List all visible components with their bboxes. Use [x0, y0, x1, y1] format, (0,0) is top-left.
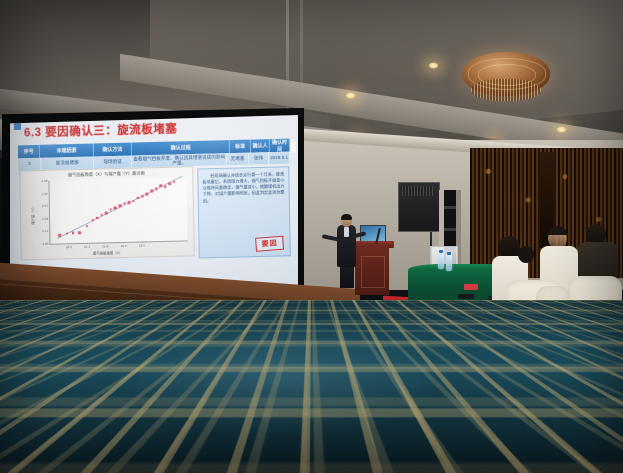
chart-ylabel: 煤产量（Y） [30, 205, 35, 224]
chart-xtick: 21.8 [102, 244, 108, 248]
wall-av-grill [402, 186, 434, 196]
chart-xtick: 20.6 [66, 245, 72, 249]
presenter-hair [341, 214, 352, 220]
speaker-segment [444, 206, 456, 209]
cell-standard: 无堵塞 [227, 153, 249, 166]
cell-process: 查看烟气挡板开度，确认因其堵塞造成的影响产量。 [132, 153, 227, 167]
chart-plot-area: 2.362.302.242.182.122.0620.621.221.822.4… [48, 177, 187, 244]
chart-trendline [49, 177, 187, 243]
chart-data-point [100, 213, 103, 216]
presenter-shirt [344, 227, 349, 237]
chart-data-point [173, 181, 176, 184]
presenter-legs [340, 264, 354, 288]
water-bottle [446, 254, 452, 271]
red-document [464, 284, 478, 290]
chandelier-icon [462, 52, 550, 108]
cell-factor: 旋流板堵塞 [41, 156, 94, 169]
chandelier-ring [478, 64, 536, 86]
chart-data-point [58, 234, 61, 237]
chart-ytick: 2.06 [42, 242, 48, 246]
col-header-index: 序号 [18, 145, 41, 159]
speaker-segment [444, 228, 456, 231]
podium-panel [361, 256, 385, 288]
chart-xtick: 23.0 [139, 243, 145, 247]
col-header-factor: 末端因素 [40, 143, 94, 157]
cell-method: 现场验证 [94, 156, 132, 169]
chart-data-point [155, 188, 158, 191]
chart-data-point [72, 232, 75, 235]
chart-ytick: 2.18 [42, 217, 48, 221]
chart-xtick: 21.2 [84, 244, 90, 248]
chart-data-point [132, 200, 135, 203]
chart-data-point [146, 193, 149, 196]
audience-head [518, 246, 534, 263]
chart-data-point [114, 207, 117, 210]
col-header-date: 确认时间 [270, 139, 290, 152]
chart-ytick: 2.24 [42, 204, 48, 208]
conclusion-text: 经现场确认并结合运行第一个月来，旋流板堵塞后，系统阻力增大，烟气挡板开度变小以维… [202, 171, 285, 204]
col-header-person: 确认人 [251, 139, 271, 152]
conclusion-box: 经现场确认并结合运行第一个月来，旋流板堵塞后，系统阻力增大，烟气挡板开度变小以维… [197, 166, 291, 258]
downlight-icon [556, 126, 567, 133]
col-header-standard: 标准 [230, 140, 251, 153]
chart-data-point [141, 195, 144, 198]
chart-data-point [137, 197, 140, 200]
chart-ytick: 2.12 [42, 229, 48, 233]
chart-data-point [105, 212, 108, 215]
chart-data-point [128, 201, 131, 204]
chart-data-point [109, 208, 112, 211]
chart-ytick: 2.36 [41, 179, 47, 183]
chart-data-point [119, 205, 122, 208]
chart-ytick: 2.30 [42, 191, 48, 195]
chart-data-point [96, 216, 99, 219]
conference-room-photo: 6.3 要因确认三：旋流板堵塞 中国华电集团 CHINA HUADIAN 序号 … [0, 0, 623, 473]
cell-date: 2019.6.1 [269, 152, 290, 165]
carpet-shading [0, 300, 623, 473]
key-factor-stamp: 要因 [255, 236, 284, 252]
chart-xtick: 22.4 [121, 243, 127, 247]
downlight-icon [428, 62, 439, 69]
scatter-chart: 烟气挡板角度（X）与煤产量（Y）散点图 煤产量（Y） 2.362.302.242… [19, 166, 195, 260]
col-header-method: 确认方法 [94, 143, 132, 157]
chart-data-point [85, 225, 88, 228]
water-bottle [438, 252, 444, 269]
black-device [458, 294, 474, 299]
chart-data-point [123, 202, 126, 205]
bottle-cap [447, 252, 451, 255]
chart-data-point [91, 219, 94, 222]
cell-index: 3 [18, 158, 41, 171]
chart-data-point [150, 190, 153, 193]
cell-person: 张伟 [249, 152, 270, 164]
chart-xlabel: 烟气挡板角度（X） [22, 248, 194, 257]
chart-data-point [159, 185, 162, 188]
bottle-cap [439, 250, 443, 253]
chart-data-point [66, 232, 69, 235]
chart-data-point [168, 182, 171, 185]
factor-table: 序号 末端因素 确认方法 确认过程 标准 确认人 确认时间 3 旋流板堵塞 现场… [18, 139, 290, 171]
title-square-icon [14, 123, 21, 130]
downlight-icon [345, 92, 356, 99]
chart-data-point [164, 185, 167, 188]
chart-data-point [78, 231, 81, 234]
